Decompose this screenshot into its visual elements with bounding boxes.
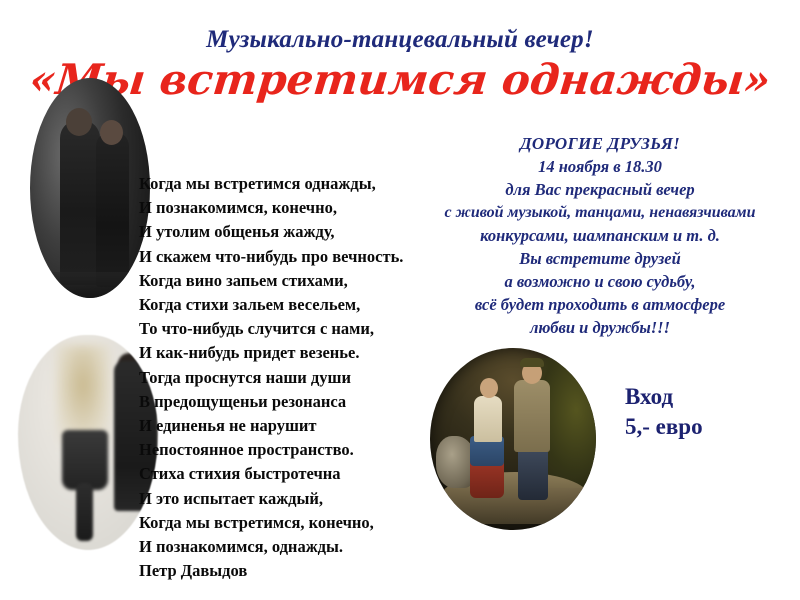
poem-line: И утолим общенья жажду, bbox=[139, 220, 439, 244]
figure-woman bbox=[96, 132, 129, 287]
photo-dancing-couple-blurred bbox=[18, 335, 158, 550]
announcement-line: с живой музыкой, танцами, ненавязчивами bbox=[400, 201, 800, 224]
poem-line: И скажем что-нибудь про вечность. bbox=[139, 245, 439, 269]
entry-price-block: Вход 5,- евро bbox=[625, 382, 703, 442]
oil-painting-rustic-couple-oval bbox=[430, 348, 596, 530]
entry-label: Вход bbox=[625, 382, 703, 412]
painting-man-hat bbox=[520, 358, 544, 367]
poster-canvas: Музыкально-танцевальный вечер! «Мы встре… bbox=[0, 0, 800, 600]
figure-woman-head bbox=[100, 120, 123, 145]
figure-man-head bbox=[66, 108, 92, 136]
painting-woman-bodice bbox=[474, 396, 502, 442]
announcement-line: ДОРОГИЕ ДРУЗЬЯ! bbox=[400, 132, 800, 155]
painting-woman-head bbox=[480, 378, 498, 398]
photo-floor-shadow bbox=[30, 272, 150, 298]
poem-author: Петр Давыдов bbox=[139, 559, 439, 583]
announcement-line: а возможно и свою судьбу, bbox=[400, 270, 800, 293]
poem-line: Непостоянное пространство. bbox=[139, 438, 439, 462]
announcement-line: Вы встретите друзей bbox=[400, 247, 800, 270]
poem-line: Когда мы встретимся однажды, bbox=[139, 172, 439, 196]
page-title: Музыкально-танцевальный вечер! bbox=[0, 26, 800, 54]
painting-man-coat bbox=[514, 380, 550, 452]
painting-man-legs bbox=[518, 448, 548, 500]
poem-line: Когда вино запьем стихами, bbox=[139, 269, 439, 293]
poem-line: Стиха стихия быстротечна bbox=[139, 462, 439, 486]
poem-line: И единенья не нарушит bbox=[139, 414, 439, 438]
poem-line: Когда мы встретимся, конечно, bbox=[139, 511, 439, 535]
poem-line: В предощущеньи резонанса bbox=[139, 390, 439, 414]
blurred-woman-legs bbox=[76, 483, 93, 541]
figure-man bbox=[60, 120, 100, 285]
poem-line: То что-нибудь случится с нами, bbox=[139, 317, 439, 341]
poem-text: Когда мы встретимся однажды, И познакоми… bbox=[139, 172, 439, 583]
announcement-line: конкурсами, шампанским и т. д. bbox=[400, 224, 800, 247]
poem-line: И это испытает каждый, bbox=[139, 487, 439, 511]
poem-line: И как-нибудь придет везенье. bbox=[139, 341, 439, 365]
announcement-line: всё будет проходить в атмосфере bbox=[400, 293, 800, 316]
poem-line: И познакомимся, конечно, bbox=[139, 196, 439, 220]
photo-couple-standing-bw bbox=[30, 78, 150, 298]
announcement-line: для Вас прекрасный вечер bbox=[400, 178, 800, 201]
announcement-line: любви и дружбы!!! bbox=[400, 316, 800, 339]
entry-price: 5,- евро bbox=[625, 412, 703, 442]
poem-line: И познакомимся, однажды. bbox=[139, 535, 439, 559]
blurred-woman-skirt bbox=[62, 430, 108, 490]
announcement-line: 14 ноября в 18.30 bbox=[400, 155, 800, 178]
poem-line: Тогда проснутся наши души bbox=[139, 366, 439, 390]
announcement-text: ДОРОГИЕ ДРУЗЬЯ! 14 ноября в 18.30 для Ва… bbox=[400, 132, 800, 339]
poem-line: Когда стихи зальем весельем, bbox=[139, 293, 439, 317]
